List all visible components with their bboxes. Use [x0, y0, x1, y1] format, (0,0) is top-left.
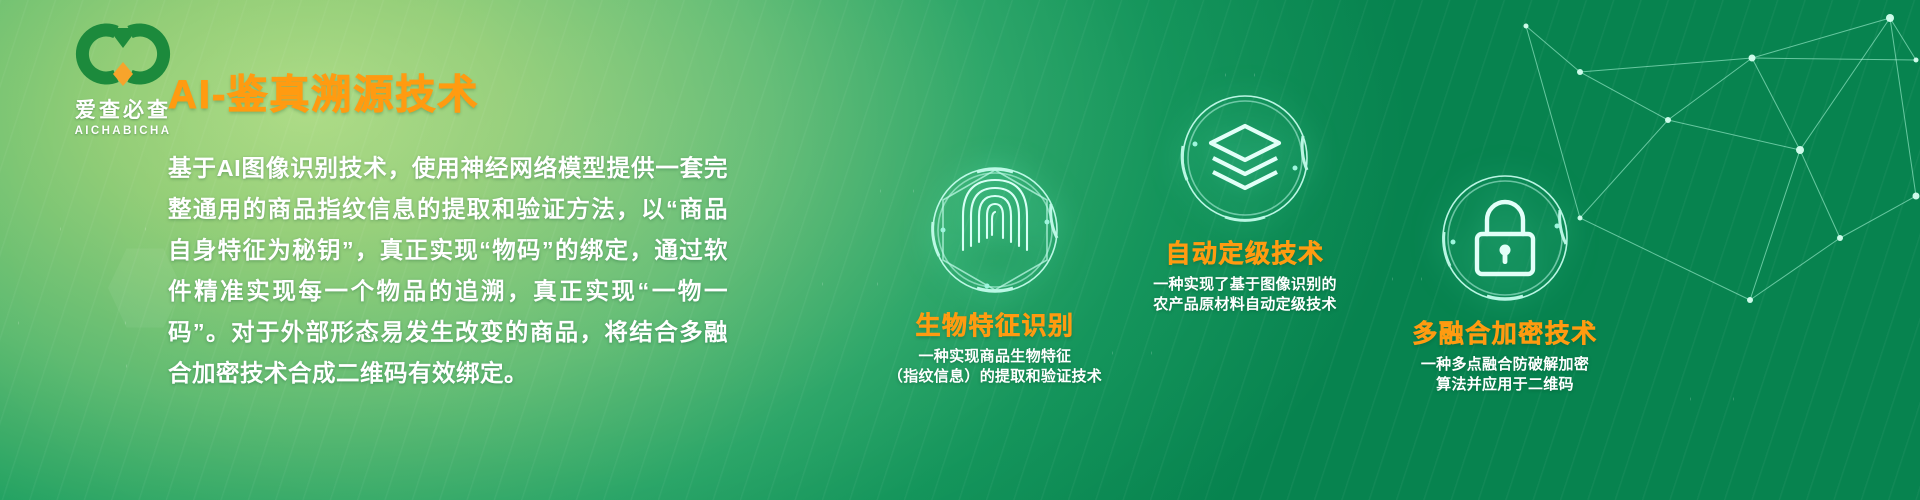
layers-stack-icon — [1175, 88, 1315, 228]
feature-card-crypt[interactable]: 多融合加密技术 一种多点融合防破解加密 算法并应用于二维码 — [1340, 168, 1670, 395]
feature-card-subtitle: 一种多点融合防破解加密 算法并应用于二维码 — [1340, 355, 1670, 395]
hexagon-icon — [18, 262, 126, 384]
hexagon-icon — [1225, 58, 1255, 92]
fingerprint-icon — [925, 160, 1065, 300]
page-title: AI-鉴真溯源技术 — [168, 62, 748, 120]
description-paragraph: 基于AI图像识别技术，使用神经网络模型提供一套完整通用的商品指纹信息的提取和验证… — [168, 148, 728, 394]
hexagon-icon — [60, 180, 146, 278]
feature-card-title: 多融合加密技术 — [1340, 314, 1670, 350]
copy-block: AI-鉴真溯源技术 基于AI图像识别技术，使用神经网络模型提供一套完整通用的商品… — [168, 62, 748, 394]
hexagon-icon — [1690, 374, 1734, 424]
banner-root: 爱查必查 AICHABICHA AI-鉴真溯源技术 基于AI图像识别技术，使用神… — [0, 0, 1920, 500]
feature-card-subtitle: 一种实现商品生物特征 （指纹信息）的提取和验证技术 — [830, 347, 1160, 387]
lock-icon — [1435, 168, 1575, 308]
